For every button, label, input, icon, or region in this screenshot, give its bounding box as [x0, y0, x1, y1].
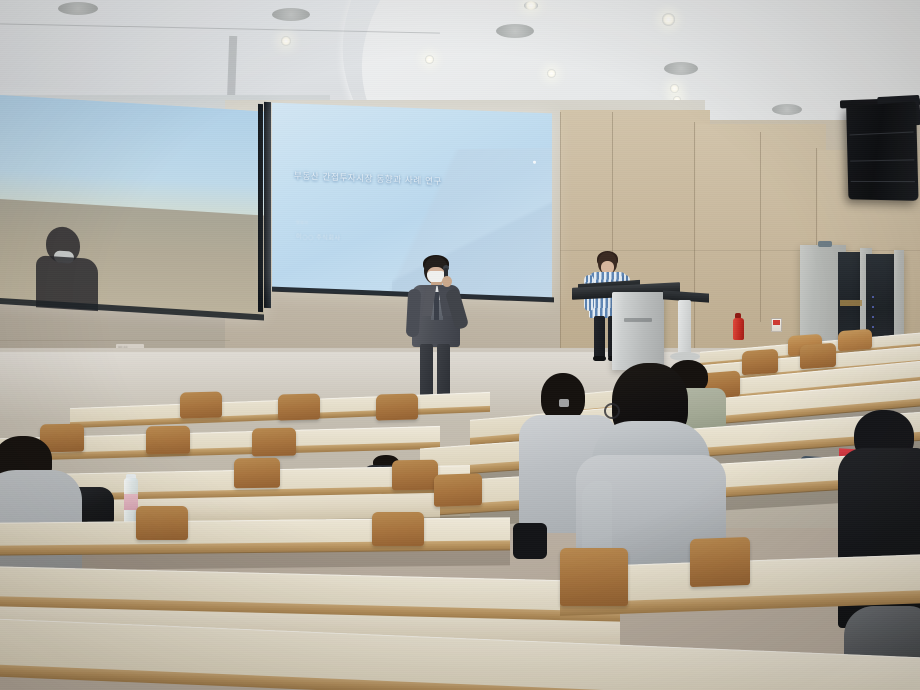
chair[interactable]: [136, 506, 188, 540]
lectern: [612, 292, 664, 370]
downlight: [281, 36, 291, 46]
ceiling-vent: [272, 8, 310, 21]
fire-extinguisher-icon: [733, 318, 744, 340]
presenter-leg: [437, 344, 450, 398]
presenter-leg: [420, 344, 433, 398]
chair[interactable]: [376, 393, 418, 420]
chair[interactable]: [838, 329, 872, 351]
downlight: [662, 13, 675, 26]
feed-figure: [36, 225, 98, 309]
feed-sky: [0, 94, 264, 215]
rack-led: [872, 296, 874, 298]
fire-alarm-button[interactable]: [773, 320, 780, 325]
ceiling-vent: [496, 24, 534, 38]
presenter: [406, 256, 468, 404]
rack-led: [872, 326, 874, 328]
student-lower: [513, 523, 547, 559]
presenter-legs: [420, 344, 452, 400]
hair-clip: [559, 399, 569, 407]
ceiling-speaker: [846, 101, 918, 201]
panel-seam: [560, 112, 561, 356]
lecture-hall-photo: 비상 부동산 간접투자시장 동향과 사례 연구 발표자 이○○ 주식회사: [0, 0, 920, 690]
downlight: [670, 84, 679, 93]
moderator-shoe: [593, 356, 606, 361]
chair[interactable]: [234, 458, 280, 489]
bottle-label: [124, 494, 138, 510]
slide-corner-dot: [533, 161, 536, 164]
chair[interactable]: [372, 512, 424, 546]
panel-seam: [694, 122, 695, 362]
side-table-leg: [678, 300, 691, 358]
chair[interactable]: [278, 393, 320, 420]
chair[interactable]: [252, 428, 296, 457]
lectern-logo: [624, 318, 652, 322]
left-screen-frame-right: [258, 104, 263, 312]
chair[interactable]: [146, 426, 190, 455]
chair[interactable]: [800, 343, 836, 370]
chair[interactable]: [742, 349, 778, 376]
wall-base-line: [0, 340, 230, 341]
rack-led: [872, 316, 874, 318]
presenter-hand: [442, 276, 452, 287]
presenter-arm-left: [406, 289, 421, 338]
moderator-leg: [594, 316, 605, 358]
chair[interactable]: [392, 460, 438, 491]
ceiling-vent: [58, 2, 98, 15]
student-dark-right-edge: [838, 400, 920, 690]
downlight: [524, 1, 538, 10]
chair[interactable]: [434, 473, 482, 507]
chair[interactable]: [690, 537, 750, 587]
downlight: [547, 69, 556, 78]
right-screen-frame-left: [264, 102, 271, 308]
ceiling-vent: [772, 104, 802, 115]
rack-top-device: [818, 241, 832, 247]
chair[interactable]: [180, 391, 222, 418]
slide-sub-label: 발표자: [296, 220, 308, 226]
ceiling-vent: [664, 62, 698, 75]
glasses-icon: [604, 403, 620, 419]
slide-sub-name: 이○○ 주식회사: [296, 232, 340, 243]
rack-equipment-unit: [840, 300, 862, 306]
rack-led: [872, 306, 874, 308]
chair[interactable]: [560, 548, 628, 606]
left-projection-screen: [0, 94, 264, 319]
panel-seam: [760, 132, 761, 322]
downlight: [425, 55, 434, 64]
